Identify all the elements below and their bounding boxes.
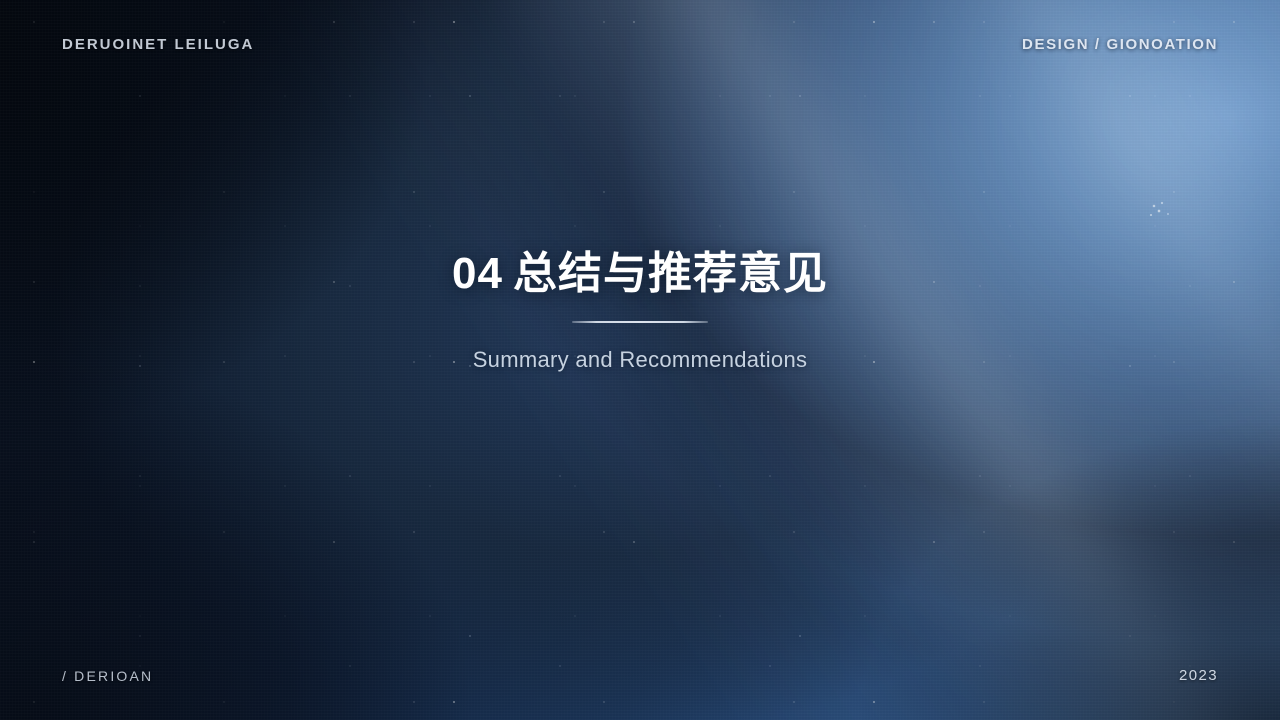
page-subtitle: Summary and Recommendations <box>473 347 808 373</box>
footer-year: 2023 <box>1179 667 1218 684</box>
section-title-text: 总结与推荐意见 <box>513 249 828 298</box>
footer-left-mark: / DERIOAN <box>62 668 153 684</box>
header-left-brand: DERUOINET LEILUGA <box>62 36 254 53</box>
section-number: 04 <box>452 249 503 298</box>
header-right-brand: DESIGN / GIONOATION <box>1022 36 1218 53</box>
slide-title-block: 04总结与推荐意见 Summary and Recommendations <box>0 248 1280 373</box>
page-title: 04总结与推荐意见 <box>452 248 828 300</box>
title-divider <box>572 321 708 323</box>
presentation-slide: DERUOINET LEILUGA DESIGN / GIONOATION 04… <box>0 0 1280 720</box>
